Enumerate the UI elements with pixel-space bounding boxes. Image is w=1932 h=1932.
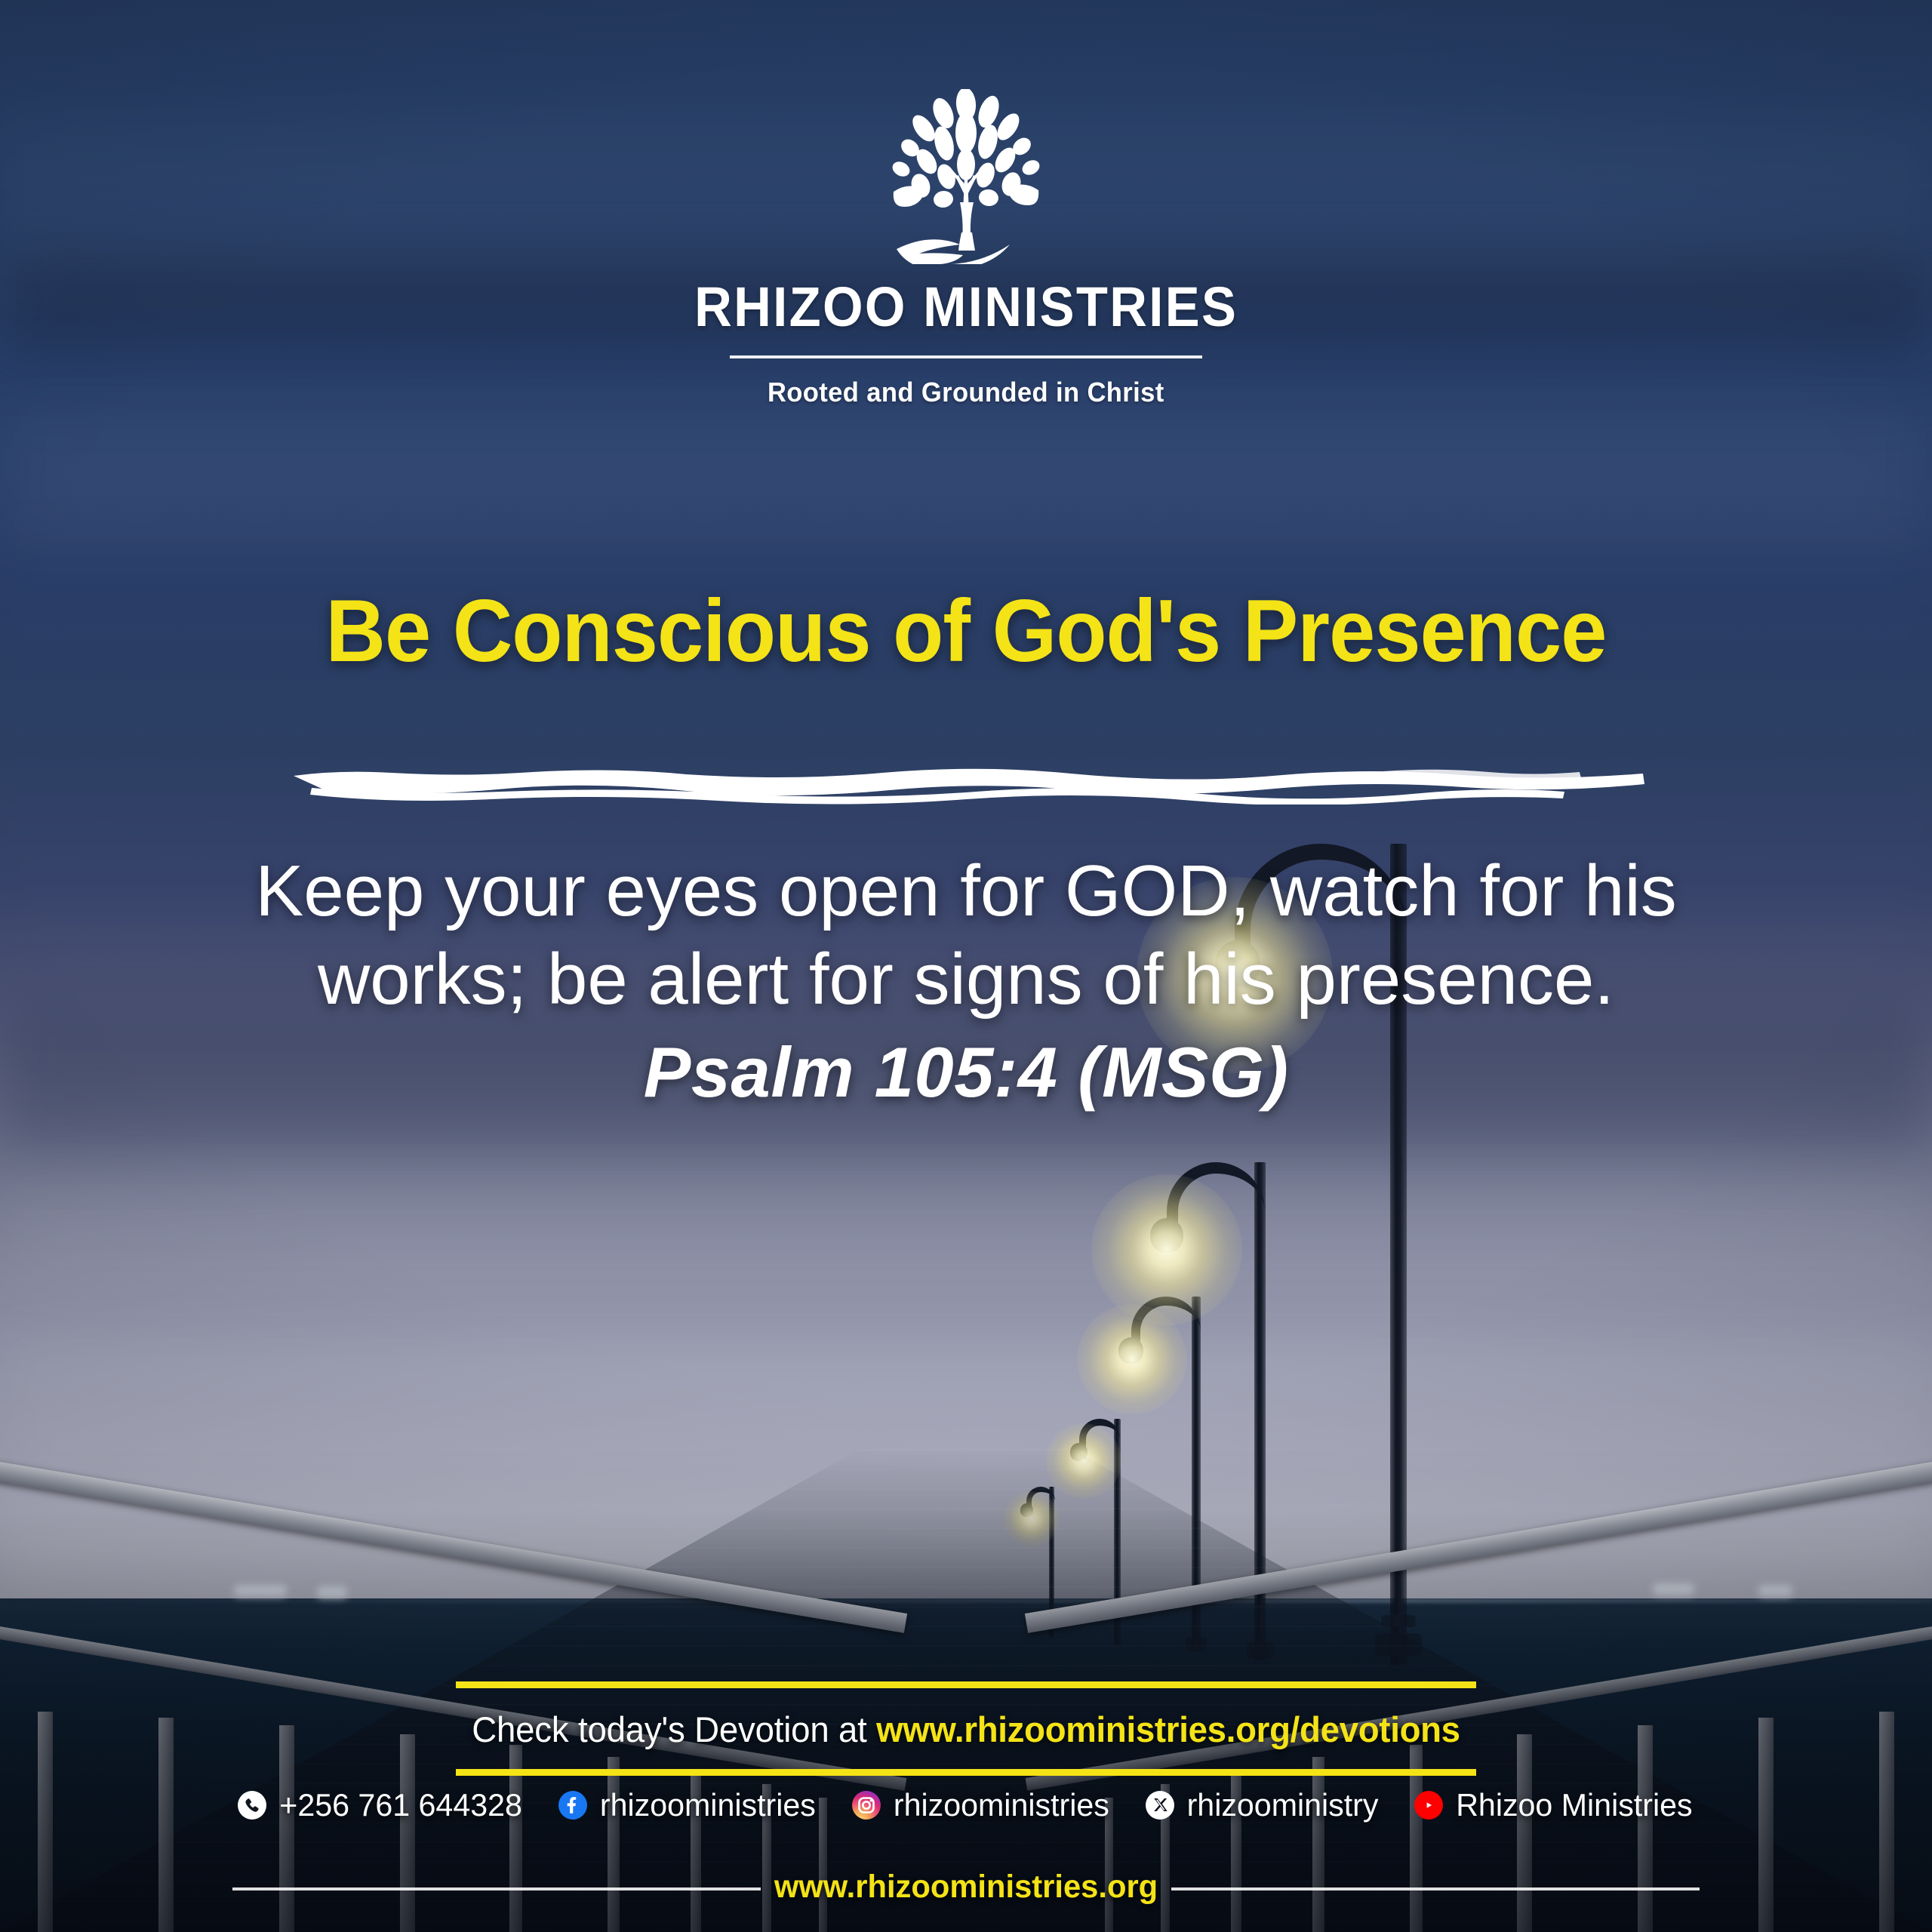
facebook-icon — [558, 1790, 588, 1820]
social-label-facebook: rhizooministries — [600, 1787, 816, 1823]
footer-website-row[interactable]: www.rhizooministries.org — [0, 1870, 1932, 1907]
brand-logo-block: RHIZOO MINISTRIES Rooted and Grounded in… — [0, 89, 1932, 408]
brand-divider — [730, 355, 1202, 358]
scripture-reference: Psalm 105:4 (MSG) — [211, 1029, 1721, 1116]
scripture-text: Keep your eyes open for GOD, watch for h… — [255, 851, 1677, 1020]
poster-content: RHIZOO MINISTRIES Rooted and Grounded in… — [0, 0, 1932, 1932]
social-item-youtube[interactable]: Rhizoo Ministries — [1414, 1787, 1695, 1823]
tree-logo-icon — [871, 89, 1061, 264]
page-title: Be Conscious of God's Presence — [58, 580, 1874, 681]
footer-rule-right — [1171, 1887, 1700, 1890]
phone-icon — [237, 1790, 267, 1820]
devotion-url[interactable]: www.rhizooministries.org/devotions — [876, 1709, 1460, 1749]
instagram-icon — [851, 1790, 881, 1820]
social-item-x-twitter[interactable]: rhizooministry — [1145, 1787, 1380, 1823]
x-twitter-icon — [1145, 1790, 1175, 1820]
brand-tagline: Rooted and Grounded in Christ — [768, 377, 1164, 408]
devotional-poster: RHIZOO MINISTRIES Rooted and Grounded in… — [0, 0, 1932, 1932]
social-item-phone[interactable]: +256 761 644328 — [237, 1787, 525, 1823]
social-label-phone: +256 761 644328 — [280, 1787, 523, 1823]
devotion-line[interactable]: Check today's Devotion at www.rhizoomini… — [29, 1688, 1903, 1769]
footer-rule-left — [232, 1887, 761, 1890]
scripture-block: Keep your eyes open for GOD, watch for h… — [211, 847, 1721, 1116]
social-item-instagram[interactable]: rhizooministries — [851, 1787, 1112, 1823]
social-label-youtube: Rhizoo Ministries — [1456, 1787, 1692, 1823]
devotion-prefix: Check today's Devotion at — [472, 1709, 876, 1749]
devotion-rule-bottom — [456, 1769, 1476, 1776]
brand-name: RHIZOO MINISTRIES — [694, 275, 1238, 339]
social-links-row: +256 761 644328 rhizooministries — [0, 1787, 1932, 1823]
devotion-banner: Check today's Devotion at www.rhizoomini… — [0, 1681, 1932, 1776]
devotion-rule-top — [456, 1681, 1476, 1688]
social-item-facebook[interactable]: rhizooministries — [558, 1787, 818, 1823]
youtube-icon — [1414, 1790, 1444, 1820]
footer-website[interactable]: www.rhizooministries.org — [767, 1869, 1165, 1906]
social-label-x-twitter: rhizooministry — [1187, 1787, 1379, 1823]
social-label-instagram: rhizooministries — [894, 1787, 1109, 1823]
brush-stroke-divider — [289, 758, 1647, 804]
